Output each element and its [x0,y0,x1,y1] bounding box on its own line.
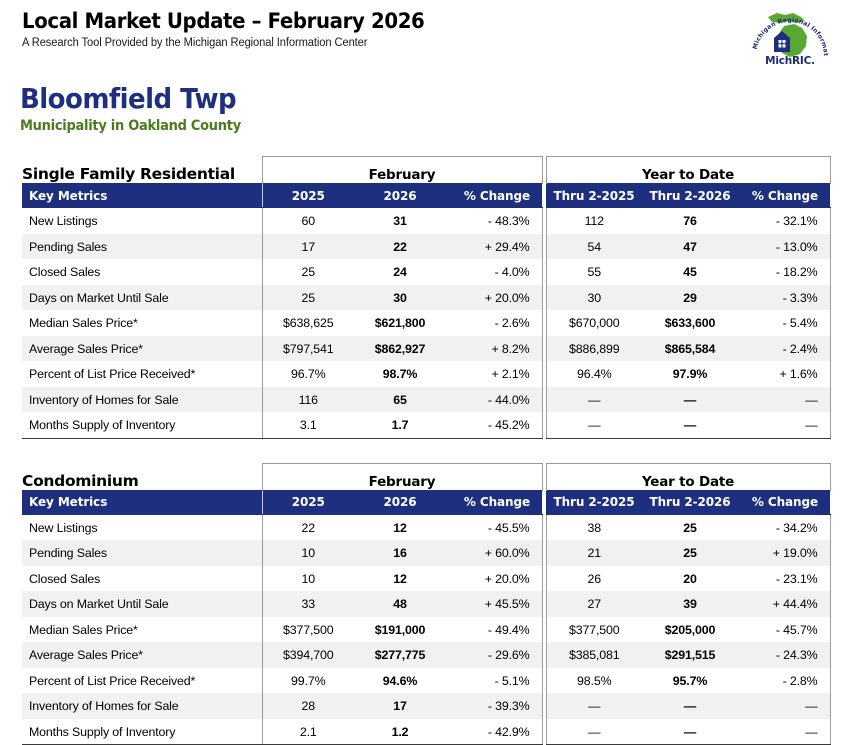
cell-ytd-change: - 13.0% [738,234,830,260]
cell-ytd-change: — [738,693,830,719]
cell-current-prior: 116 [262,387,354,413]
cell-ytd-prior: 26 [546,566,642,592]
cell-current-change: - 45.5% [446,514,542,540]
cell-ytd-now: 39 [642,591,738,617]
cell-current-now: $862,927 [354,336,446,362]
cell-current-prior: 96.7% [262,361,354,387]
group-label-current: February [262,463,542,490]
cell-current-change: - 2.6% [446,310,542,336]
cell-current-change: + 29.4% [446,234,542,260]
cell-ytd-change: - 2.8% [738,668,830,694]
cell-metric-name: Closed Sales [22,566,262,592]
col-header-current-change: % Change [446,490,542,514]
cell-ytd-now: $633,600 [642,310,738,336]
table-block-condominium: Condominium February Year to Date Key Me… [22,463,830,745]
cell-ytd-change: - 34.2% [738,514,830,540]
cell-ytd-change: - 32.1% [738,208,830,234]
cell-current-change: + 60.0% [446,540,542,566]
cell-ytd-now: — [642,387,738,413]
cell-current-prior: 28 [262,693,354,719]
column-header-row: Key Metrics 2025 2026 % Change Thru 2-20… [22,184,830,208]
cell-ytd-change: - 18.2% [738,259,830,285]
cell-metric-name: Days on Market Until Sale [22,591,262,617]
cell-current-now: $191,000 [354,617,446,643]
cell-metric-name: New Listings [22,514,262,540]
table-row: Months Supply of Inventory3.11.7- 45.2%—… [22,412,830,438]
table-row: Percent of List Price Received*96.7%98.7… [22,361,830,387]
table-row: Pending Sales1722+ 29.4%5447- 13.0% [22,234,830,260]
cell-current-now: 48 [354,591,446,617]
cell-current-prior: 33 [262,591,354,617]
group-header-row: Condominium February Year to Date [22,463,830,490]
report-title: Local Market Update – February 2026 [22,10,800,33]
cell-ytd-change: - 45.7% [738,617,830,643]
page-header: Local Market Update – February 2026 A Re… [0,0,850,62]
cell-current-now: 17 [354,693,446,719]
cell-current-change: - 45.2% [446,412,542,438]
cell-ytd-prior: — [546,387,642,413]
cell-metric-name: Inventory of Homes for Sale [22,387,262,413]
cell-ytd-change: - 23.1% [738,566,830,592]
cell-ytd-change: + 19.0% [738,540,830,566]
cell-current-now: 12 [354,566,446,592]
cell-ytd-now: 20 [642,566,738,592]
col-header-ytd-change: % Change [738,184,830,208]
table-body-condominium: New Listings2212- 45.5%3825- 34.2%Pendin… [22,514,830,745]
cell-ytd-change: + 1.6% [738,361,830,387]
table-row: New Listings2212- 45.5%3825- 34.2% [22,514,830,540]
cell-current-now: 12 [354,514,446,540]
col-header-current-now: 2026 [354,490,446,514]
cell-ytd-change: — [738,719,830,745]
cell-metric-name: Median Sales Price* [22,310,262,336]
table-block-single-family: Single Family Residential February Year … [22,156,830,439]
cell-ytd-prior: 55 [546,259,642,285]
cell-metric-name: Months Supply of Inventory [22,412,262,438]
cell-ytd-now: 25 [642,514,738,540]
cell-metric-name: Months Supply of Inventory [22,719,262,745]
cell-current-change: - 5.1% [446,668,542,694]
logo-caption: MichRIC. [744,55,836,67]
cell-ytd-now: 45 [642,259,738,285]
table-body-single-family: New Listings6031- 48.3%11276- 32.1%Pendi… [22,208,830,439]
col-header-key-metrics: Key Metrics [22,490,262,514]
cell-ytd-now: 95.7% [642,668,738,694]
table-row: Days on Market Until Sale2530+ 20.0%3029… [22,285,830,311]
cell-current-change: + 20.0% [446,566,542,592]
cell-current-prior: 10 [262,566,354,592]
michric-logo: Michigan Regional Information Center Mic… [744,4,836,68]
table-row: Inventory of Homes for Sale2817- 39.3%——… [22,693,830,719]
table-row: Percent of List Price Received*99.7%94.6… [22,668,830,694]
cell-current-prior: $638,625 [262,310,354,336]
cell-current-change: + 20.0% [446,285,542,311]
market-table-condominium: Condominium February Year to Date Key Me… [22,463,831,745]
cell-current-prior: $394,700 [262,642,354,668]
cell-current-prior: 17 [262,234,354,260]
michric-logo-icon: Michigan Regional Information Center [744,4,836,62]
cell-ytd-prior: 30 [546,285,642,311]
group-header-row: Single Family Residential February Year … [22,157,830,184]
cell-ytd-prior: 38 [546,514,642,540]
cell-metric-name: Days on Market Until Sale [22,285,262,311]
col-header-ytd-now: Thru 2-2026 [642,490,738,514]
cell-current-change: + 45.5% [446,591,542,617]
cell-metric-name: Pending Sales [22,540,262,566]
cell-ytd-prior: $670,000 [546,310,642,336]
property-type-title: Single Family Residential [22,157,262,184]
cell-current-now: 94.6% [354,668,446,694]
cell-metric-name: Closed Sales [22,259,262,285]
cell-current-change: - 49.4% [446,617,542,643]
cell-ytd-change: - 5.4% [738,310,830,336]
property-type-title: Condominium [22,463,262,490]
cell-current-prior: 99.7% [262,668,354,694]
cell-ytd-prior: 54 [546,234,642,260]
cell-current-now: 16 [354,540,446,566]
cell-ytd-prior: — [546,412,642,438]
col-header-ytd-prior: Thru 2-2025 [546,490,642,514]
cell-current-prior: 22 [262,514,354,540]
cell-ytd-prior: $377,500 [546,617,642,643]
cell-ytd-now: 97.9% [642,361,738,387]
cell-current-change: + 8.2% [446,336,542,362]
market-table-single-family: Single Family Residential February Year … [22,156,831,439]
cell-ytd-change: - 3.3% [738,285,830,311]
table-row: Closed Sales2524- 4.0%5545- 18.2% [22,259,830,285]
cell-ytd-prior: — [546,693,642,719]
cell-current-change: - 44.0% [446,387,542,413]
cell-metric-name: New Listings [22,208,262,234]
table-row: Median Sales Price*$377,500$191,000- 49.… [22,617,830,643]
table-row: Closed Sales1012+ 20.0%2620- 23.1% [22,566,830,592]
cell-current-change: - 39.3% [446,693,542,719]
cell-current-now: 65 [354,387,446,413]
cell-ytd-now: 76 [642,208,738,234]
cell-current-now: 1.7 [354,412,446,438]
table-row: New Listings6031- 48.3%11276- 32.1% [22,208,830,234]
cell-current-prior: 60 [262,208,354,234]
table-row: Pending Sales1016+ 60.0%2125+ 19.0% [22,540,830,566]
cell-ytd-now: $291,515 [642,642,738,668]
cell-current-prior: 3.1 [262,412,354,438]
area-description: Municipality in Oakland County [20,118,792,134]
cell-current-prior: 25 [262,259,354,285]
table-row: Days on Market Until Sale3348+ 45.5%2739… [22,591,830,617]
cell-ytd-now: 47 [642,234,738,260]
cell-ytd-now: — [642,412,738,438]
cell-metric-name: Percent of List Price Received* [22,361,262,387]
col-header-current-prior: 2025 [262,490,354,514]
cell-ytd-prior: 21 [546,540,642,566]
cell-current-now: 22 [354,234,446,260]
cell-current-now: 24 [354,259,446,285]
report-subtitle: A Research Tool Provided by the Michigan… [22,37,825,49]
cell-current-change: - 29.6% [446,642,542,668]
cell-ytd-change: + 44.4% [738,591,830,617]
table-row: Median Sales Price*$638,625$621,800- 2.6… [22,310,830,336]
col-header-current-change: % Change [446,184,542,208]
col-header-ytd-prior: Thru 2-2025 [546,184,642,208]
cell-ytd-now: $205,000 [642,617,738,643]
cell-ytd-now: — [642,719,738,745]
cell-metric-name: Pending Sales [22,234,262,260]
cell-current-now: 31 [354,208,446,234]
cell-ytd-now: 29 [642,285,738,311]
cell-current-now: $621,800 [354,310,446,336]
cell-ytd-prior: 98.5% [546,668,642,694]
cell-metric-name: Inventory of Homes for Sale [22,693,262,719]
cell-current-now: 98.7% [354,361,446,387]
cell-ytd-prior: $385,081 [546,642,642,668]
column-header-row: Key Metrics 2025 2026 % Change Thru 2-20… [22,490,830,514]
cell-current-change: - 42.9% [446,719,542,745]
table-row: Average Sales Price*$797,541$862,927+ 8.… [22,336,830,362]
cell-metric-name: Median Sales Price* [22,617,262,643]
cell-ytd-prior: — [546,719,642,745]
col-header-ytd-change: % Change [738,490,830,514]
cell-ytd-change: — [738,387,830,413]
cell-ytd-prior: 96.4% [546,361,642,387]
cell-current-prior: $797,541 [262,336,354,362]
group-label-ytd: Year to Date [546,157,830,184]
cell-ytd-prior: $886,899 [546,336,642,362]
cell-current-change: - 4.0% [446,259,542,285]
table-row: Months Supply of Inventory2.11.2- 42.9%—… [22,719,830,745]
cell-ytd-prior: 112 [546,208,642,234]
table-row: Inventory of Homes for Sale11665- 44.0%—… [22,387,830,413]
col-header-current-now: 2026 [354,184,446,208]
cell-ytd-change: - 24.3% [738,642,830,668]
cell-current-prior: 10 [262,540,354,566]
col-header-key-metrics: Key Metrics [22,184,262,208]
table-row: Average Sales Price*$394,700$277,775- 29… [22,642,830,668]
cell-current-change: - 48.3% [446,208,542,234]
cell-ytd-change: — [738,412,830,438]
cell-ytd-now: — [642,693,738,719]
cell-current-prior: 25 [262,285,354,311]
cell-current-now: 1.2 [354,719,446,745]
cell-metric-name: Average Sales Price* [22,642,262,668]
cell-ytd-now: $865,584 [642,336,738,362]
cell-ytd-now: 25 [642,540,738,566]
group-label-current: February [262,157,542,184]
area-name: Bloomfield Twp [20,84,792,113]
cell-current-prior: 2.1 [262,719,354,745]
col-header-ytd-now: Thru 2-2026 [642,184,738,208]
cell-current-now: $277,775 [354,642,446,668]
cell-metric-name: Average Sales Price* [22,336,262,362]
cell-current-change: + 2.1% [446,361,542,387]
group-label-ytd: Year to Date [546,463,830,490]
cell-ytd-change: - 2.4% [738,336,830,362]
area-heading: Bloomfield Twp Municipality in Oakland C… [0,62,850,134]
col-header-current-prior: 2025 [262,184,354,208]
cell-current-now: 30 [354,285,446,311]
cell-ytd-prior: 27 [546,591,642,617]
cell-metric-name: Percent of List Price Received* [22,668,262,694]
cell-current-prior: $377,500 [262,617,354,643]
